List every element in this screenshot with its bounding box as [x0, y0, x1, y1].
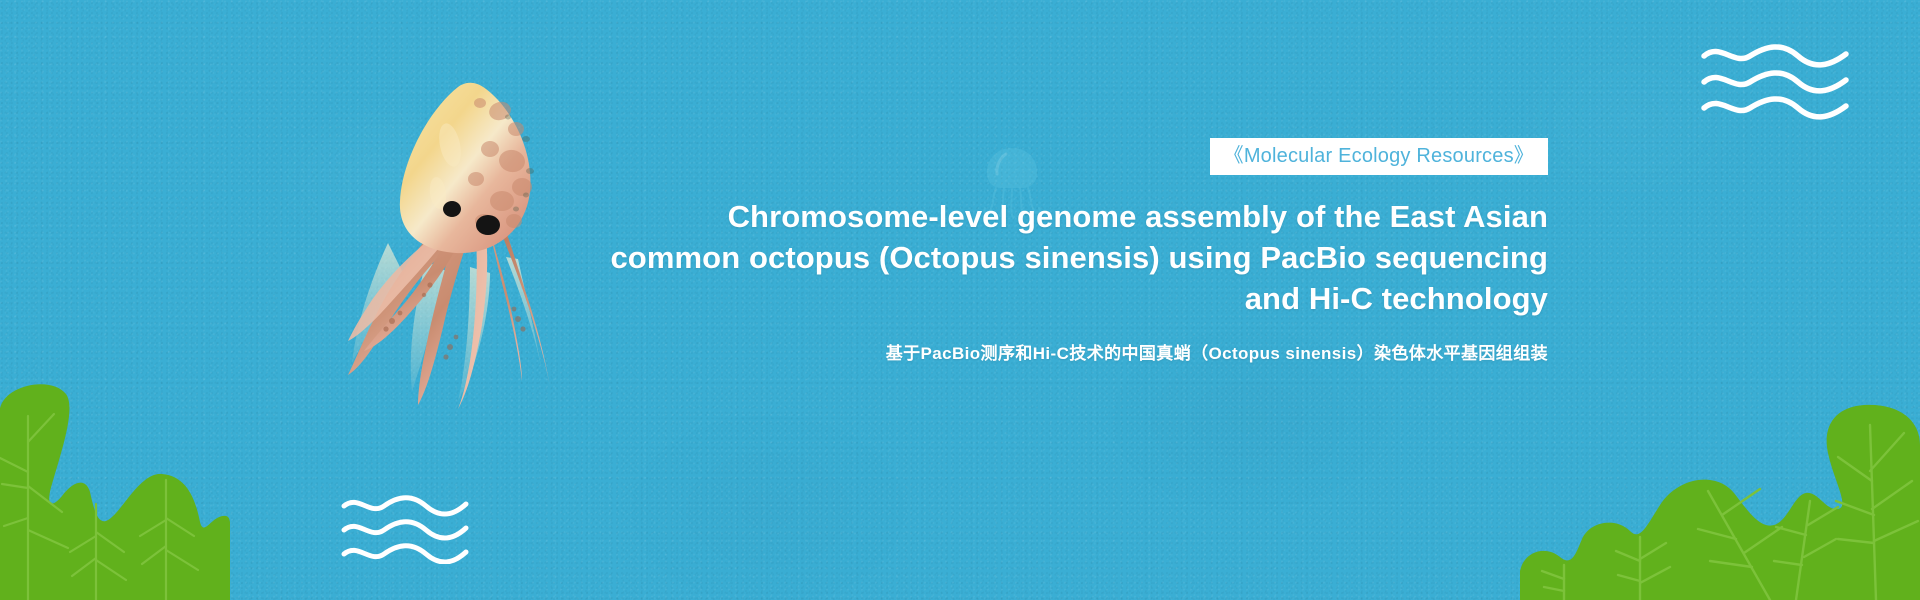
paper-title-line-2: common octopus (Octopus sinensis) using …	[610, 240, 1548, 275]
paper-title-line-3: and Hi-C technology	[1245, 281, 1548, 316]
wave-lines-top-right-icon	[1700, 40, 1850, 120]
research-banner: 《Molecular Ecology Resources》 Chromosome…	[0, 0, 1920, 600]
seaweed-cluster-right-icon	[1520, 385, 1920, 600]
paper-subtitle-chinese: 基于PacBio测序和Hi-C技术的中国真蛸（Octopus sinensis）…	[470, 342, 1548, 366]
wave-lines-bottom-left-icon	[340, 492, 470, 564]
banner-text-block: 《Molecular Ecology Resources》 Chromosome…	[470, 138, 1548, 366]
journal-name-badge: 《Molecular Ecology Resources》	[1210, 138, 1548, 175]
paper-title: Chromosome-level genome assembly of the …	[470, 197, 1548, 320]
paper-title-line-1: Chromosome-level genome assembly of the …	[728, 199, 1548, 234]
seaweed-cluster-left-icon	[0, 380, 230, 600]
